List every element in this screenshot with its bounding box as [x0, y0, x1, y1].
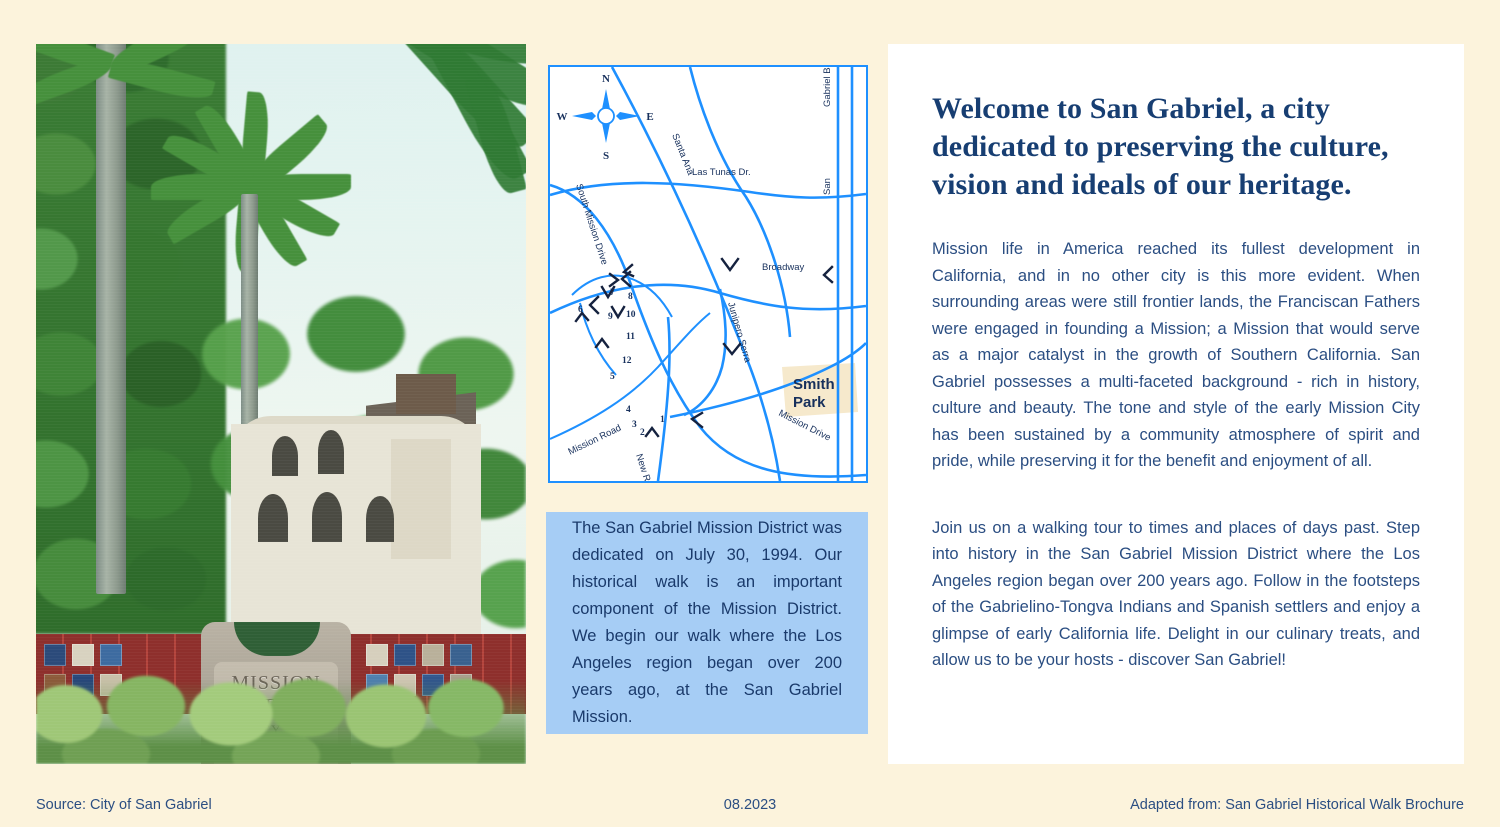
direction-chevron — [646, 428, 658, 436]
street-label-san: San — [822, 178, 833, 195]
footer-adapted: Adapted from: San Gabriel Historical Wal… — [1130, 797, 1464, 813]
panel-paragraph-2: Join us on a walking tour to times and p… — [932, 515, 1420, 674]
map-stop-3: 3 — [632, 420, 637, 430]
callout-text: The San Gabriel Mission District was ded… — [572, 515, 842, 731]
mission-arch — [318, 430, 344, 474]
direction-chevron — [722, 259, 738, 270]
compass-south: S — [603, 150, 609, 162]
palm-trunk — [96, 44, 126, 594]
map-stop-2: 2 — [640, 428, 645, 438]
park-label-line1: Smith — [793, 376, 835, 393]
map-stop-5: 5 — [610, 372, 615, 382]
panel-heading: Welcome to San Gabriel, a city dedicated… — [932, 90, 1420, 204]
foreground-shrubs — [36, 644, 526, 764]
map-stop-11: 11 — [626, 332, 635, 342]
street-label-south-mission-drive: South Mission Drive — [573, 183, 610, 267]
mission-roof-cap — [396, 374, 456, 414]
compass-north: N — [602, 73, 610, 85]
mission-photo: MISSION DISTRICT CITY OF SAN GABRIEL — [36, 44, 526, 764]
compass-east: E — [646, 111, 653, 123]
compass-west: W — [557, 111, 568, 123]
map-svg: .rd { fill:none; stroke:#1E90FF; stroke-… — [550, 67, 866, 481]
welcome-panel: Welcome to San Gabriel, a city dedicated… — [888, 44, 1464, 764]
mission-arch — [366, 496, 394, 542]
street-label-broadway: Broadway — [762, 262, 804, 273]
street-label-junipero-serra: Junipero Serra — [725, 301, 753, 365]
map-stop-9: 9 — [608, 312, 613, 322]
panel-paragraph-1: Mission life in America reached its full… — [932, 236, 1420, 475]
mission-bell-tower — [391, 439, 451, 559]
map-stop-6: 6 — [578, 305, 583, 315]
mission-arch — [272, 436, 298, 476]
mission-arch — [312, 492, 342, 542]
map-stop-1: 1 — [660, 415, 665, 425]
map-stop-10: 10 — [626, 310, 636, 320]
map-stop-12: 12 — [622, 356, 632, 366]
direction-chevron — [612, 307, 624, 317]
direction-chevron — [724, 344, 740, 354]
map-stop-7: 7 — [610, 288, 615, 298]
walking-tour-map[interactable]: .rd { fill:none; stroke:#1E90FF; stroke-… — [548, 65, 868, 483]
map-stop-8: 8 — [628, 292, 633, 302]
street-label-las-tunas: Las Tunas Dr. — [692, 167, 751, 178]
direction-chevron — [590, 297, 598, 313]
direction-chevron — [596, 339, 608, 347]
mission-district-callout: The San Gabriel Mission District was ded… — [546, 512, 868, 734]
direction-chevron — [824, 267, 832, 282]
map-stop-4: 4 — [626, 405, 631, 415]
mission-arch — [258, 494, 288, 542]
street-label-gabriel-blvd: Gabriel Blvd. — [822, 67, 833, 107]
park-label-line2: Park — [793, 394, 826, 411]
